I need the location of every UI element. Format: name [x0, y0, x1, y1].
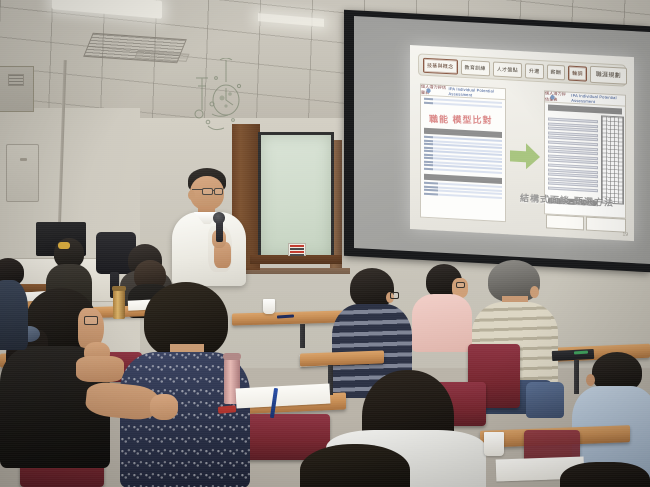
- denim-tote-bag: [526, 382, 564, 418]
- slide-nav-button-6: 職涯規劃: [590, 65, 627, 84]
- left-doc-chart-bars: [421, 135, 505, 177]
- person-bottom-right-dark-hair: [560, 462, 650, 487]
- slide-nav-button-5: 輪調: [568, 65, 587, 81]
- marker-stripe: [290, 254, 304, 256]
- microphone-head: [213, 212, 225, 224]
- hand-writing: [150, 394, 178, 420]
- slide-left-document: 個人潛力評估量表 IPA Individual Potential Assess…: [420, 84, 506, 223]
- person-bottom-center-dark-hair: [300, 444, 410, 487]
- paper-cup: [263, 299, 275, 314]
- presenter-ear: [188, 190, 195, 200]
- marker-stripe: [290, 251, 304, 253]
- left-doc-second-chart: [421, 181, 505, 202]
- doc-logo-icon: [548, 93, 557, 101]
- torso: [412, 294, 472, 352]
- person-center-pink-shirt: [412, 264, 472, 350]
- person-left-edge: [0, 258, 28, 348]
- wall-access-door: [6, 144, 39, 202]
- chalk-ledge: [250, 255, 342, 264]
- eyeglasses: [84, 316, 98, 325]
- marker-box: [288, 243, 306, 256]
- green-right-arrow: [510, 142, 540, 170]
- presentation-slide: 技基與概念 教育訓練 人才盤點 升遷 薪酬 輪調 職涯規劃 個人潛力評估量表 I…: [410, 45, 634, 241]
- slide-page-number: 19: [622, 232, 628, 238]
- desk-leg: [300, 324, 305, 348]
- door-handle: [20, 158, 27, 161]
- panel-vent-grille: [8, 74, 24, 86]
- marker-stripe: [290, 245, 304, 247]
- projection-screen: 技基與概念 教育訓練 人才盤點 升遷 薪酬 輪調 職涯規劃 個人潛力評估量表 I…: [354, 16, 650, 264]
- arrow-head: [526, 143, 540, 170]
- doc-row: [548, 186, 598, 192]
- glasses-temple: [192, 189, 203, 190]
- arrow-shaft: [510, 150, 527, 162]
- marker-stripe: [290, 248, 304, 250]
- slide-nav-button-0: 技基與概念: [423, 57, 458, 74]
- right-doc-section-bar: [548, 104, 622, 114]
- right-doc-row-list: [548, 117, 598, 193]
- slide-nav-button-2: 人才盤點: [493, 61, 522, 78]
- wall-service-panel: [0, 66, 34, 112]
- green-writing-board: [258, 132, 334, 260]
- ear: [586, 374, 595, 386]
- paper-cup: [484, 432, 504, 456]
- slide-nav-bar: 技基與概念 教育訓練 人才盤點 升遷 薪酬 輪調 職涯規劃: [418, 53, 626, 86]
- eyeglasses: [456, 282, 465, 288]
- slide-footer-box: [546, 214, 584, 230]
- right-doc-header-en: IPA Individual Potential Assessment: [571, 93, 622, 106]
- hair-scrunchie: [58, 242, 70, 249]
- doc-logo-icon: [424, 87, 433, 95]
- thermos-lid: [223, 353, 241, 360]
- eyeglasses: [214, 188, 223, 195]
- slide-nav-button-3: 升遷: [525, 63, 544, 79]
- hair: [560, 462, 650, 487]
- hair: [300, 444, 410, 487]
- classroom-photo: 技基與概念 教育訓練 人才盤點 升遷 薪酬 輪調 職涯規劃 個人潛力評估量表 I…: [0, 0, 650, 487]
- ear: [530, 286, 539, 298]
- person-presenter: [168, 168, 254, 288]
- slide-nav-button-4: 薪酬: [547, 64, 566, 80]
- eyeglasses: [390, 292, 399, 299]
- glasses-bridge: [212, 190, 215, 191]
- torso: [0, 280, 28, 350]
- slide-nav-button-1: 教育訓練: [461, 59, 490, 76]
- slide-footer-box: [586, 217, 626, 233]
- right-doc-score-grid: [601, 115, 624, 204]
- left-doc-red-annotation: 職能 模型比對: [429, 112, 493, 126]
